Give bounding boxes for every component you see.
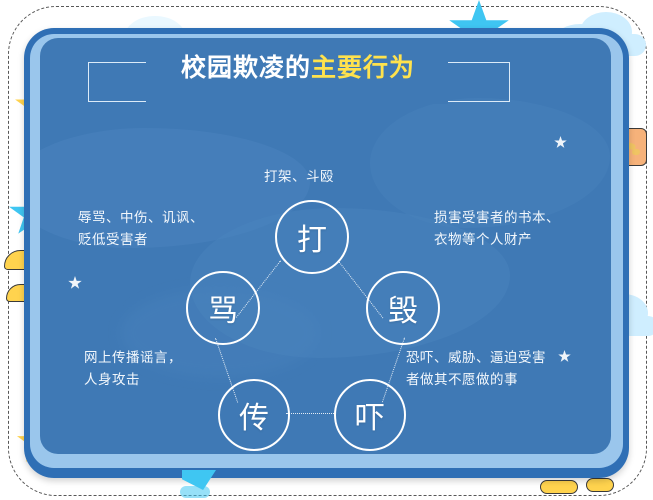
node-threaten-label: 吓	[355, 393, 385, 437]
node-hit[interactable]: 打	[275, 200, 349, 274]
node-destroy[interactable]: 毁	[366, 271, 440, 345]
node-hit-label: 打	[297, 215, 327, 259]
node-spread-label: 传	[239, 393, 269, 437]
node-scold-label: 骂	[208, 286, 238, 330]
caption-destroy: 损害受害者的书本、 衣物等个人财产	[434, 207, 560, 251]
title-block: 校园欺凌的主要行为	[88, 52, 508, 102]
node-threaten[interactable]: 吓	[334, 379, 406, 451]
node-scold[interactable]: 骂	[186, 271, 260, 345]
caption-threaten: 恐吓、威胁、逼迫受害 者做其不愿做的事	[406, 347, 546, 391]
star-white-right-lower-icon	[558, 350, 571, 363]
ribbon-yellow-bottom	[540, 480, 578, 494]
title-plain-text: 校园欺凌的	[181, 53, 311, 82]
caption-spread: 网上传播谣言， 人身攻击	[84, 347, 182, 391]
ribbon-yellow-bottom-2	[586, 478, 614, 492]
poster-canvas: 校园欺凌的主要行为 打 骂 毁 传 吓 打架、斗殴 辱骂、中伤、讥讽、 贬低受害…	[0, 0, 653, 500]
page-title: 校园欺凌的主要行为	[88, 48, 508, 88]
caption-hit: 打架、斗殴	[264, 166, 334, 188]
caption-scold: 辱骂、中伤、讥讽、 贬低受害者	[78, 207, 204, 251]
node-destroy-label: 毁	[388, 286, 418, 330]
link-spread-threaten	[286, 413, 334, 414]
arrow-cyan-bottom-shadow-icon	[180, 486, 210, 498]
title-highlight-text: 主要行为	[311, 53, 415, 82]
star-white-left-icon	[68, 276, 82, 290]
node-spread[interactable]: 传	[218, 379, 290, 451]
